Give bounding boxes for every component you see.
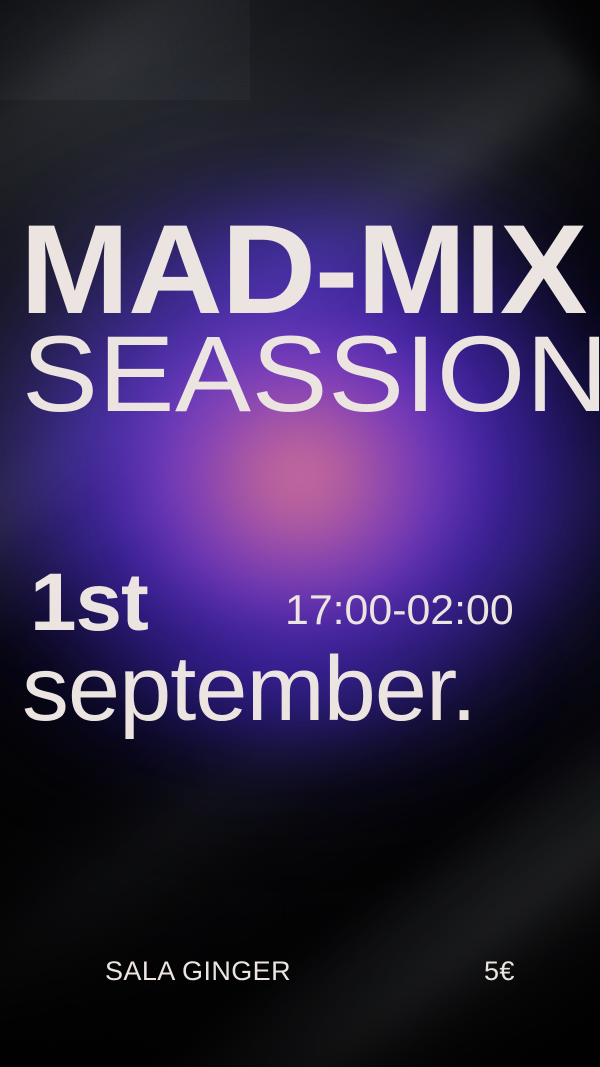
event-day: 1st	[30, 562, 148, 644]
poster-content: MAD-MIX SEASSION 1st 17:00-02:00 septemb…	[0, 0, 600, 1067]
headline-secondary: SEASSION	[22, 320, 600, 428]
ticket-price: 5€	[484, 958, 515, 985]
venue-name: SALA GINGER	[105, 958, 291, 985]
event-month: september.	[22, 643, 476, 735]
event-time-range: 17:00-02:00	[285, 589, 514, 631]
poster-canvas: MAD-MIX SEASSION 1st 17:00-02:00 septemb…	[0, 0, 600, 1067]
speck-artifact-mark	[281, 905, 285, 918]
